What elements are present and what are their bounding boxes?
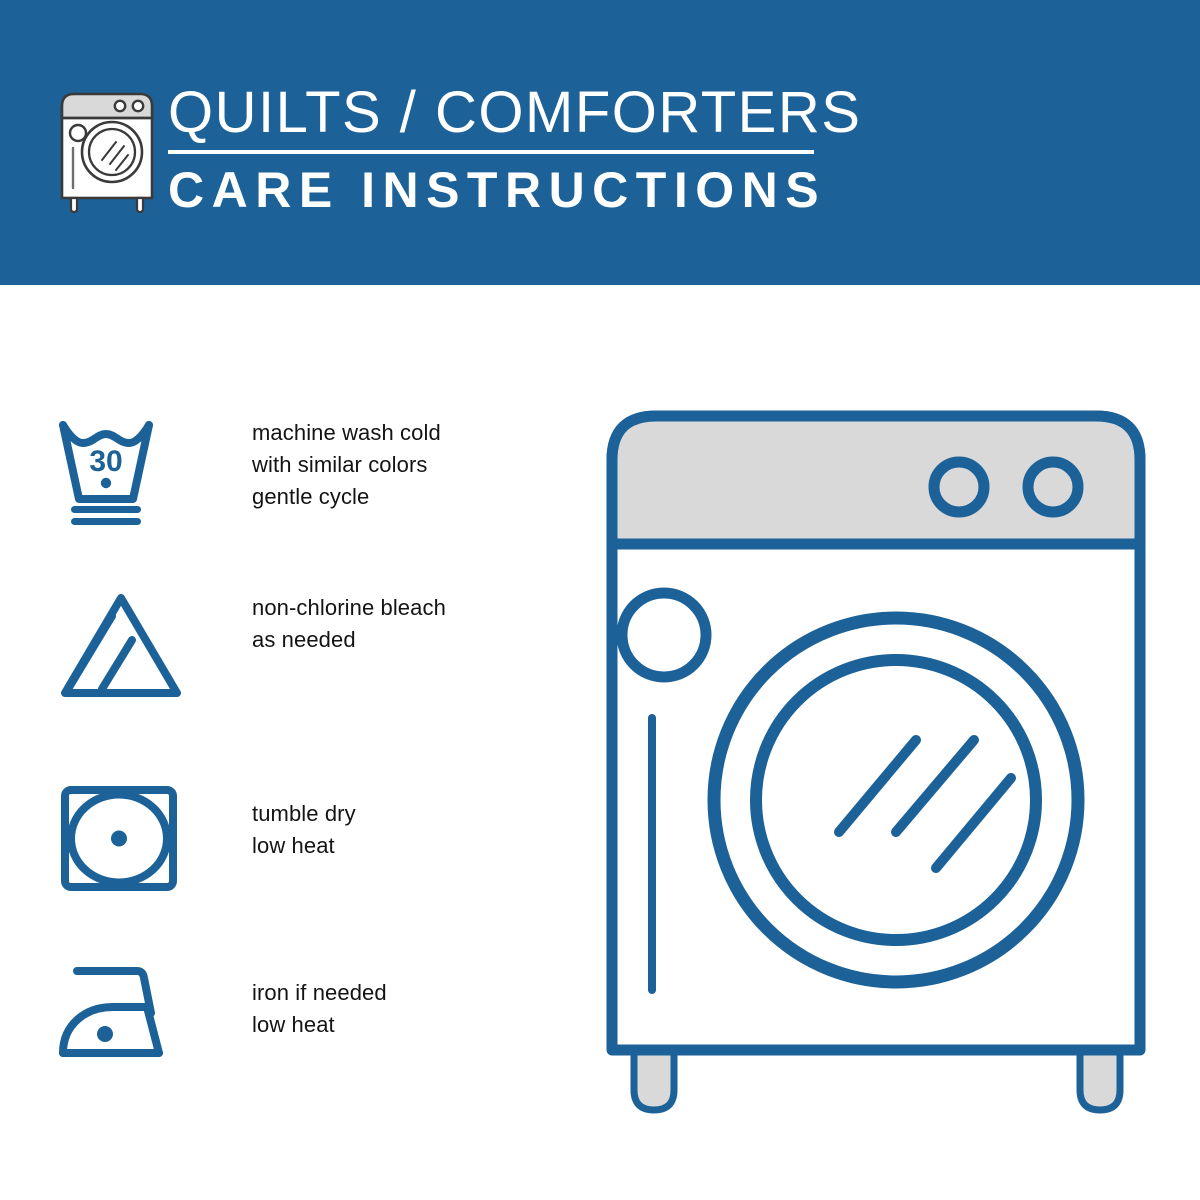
care-line: iron if needed xyxy=(252,977,387,1009)
iron-low-heat-icon xyxy=(55,955,190,1070)
page-title: QUILTS / COMFORTERS xyxy=(168,82,828,144)
care-line: low heat xyxy=(252,830,356,862)
title-divider xyxy=(168,150,814,154)
knob-left xyxy=(934,462,984,512)
wash-temperature-label: 30 xyxy=(89,445,122,478)
care-line: tumble dry xyxy=(252,798,356,830)
care-row: tumble dry low heat xyxy=(0,780,560,895)
washing-machine-icon xyxy=(52,78,164,213)
care-text-wash: machine wash cold with similar colors ge… xyxy=(252,413,441,513)
care-row: non-chlorine bleach as needed xyxy=(0,588,560,703)
care-line: non-chlorine bleach xyxy=(252,592,446,624)
care-line: low heat xyxy=(252,1009,387,1041)
care-line: gentle cycle xyxy=(252,481,441,513)
care-text-bleach: non-chlorine bleach as needed xyxy=(252,588,446,656)
care-line: as needed xyxy=(252,624,446,656)
knob-right xyxy=(1028,462,1078,512)
wash-tub-30-gentle-icon: 30 xyxy=(55,413,190,528)
tumble-dry-low-heat-icon xyxy=(55,780,190,895)
care-text-dry: tumble dry low heat xyxy=(252,780,356,862)
care-line: with similar colors xyxy=(252,449,441,481)
care-line: machine wash cold xyxy=(252,417,441,449)
care-row: iron if needed low heat xyxy=(0,955,560,1070)
page-header: QUILTS / COMFORTERS CARE INSTRUCTIONS xyxy=(0,0,1200,285)
care-instructions-list: 30 machine wash cold with similar colors… xyxy=(0,285,560,1200)
bleach-triangle-non-chlorine-icon xyxy=(55,588,190,703)
care-text-iron: iron if needed low heat xyxy=(252,955,387,1041)
front-load-washing-machine-illustration xyxy=(596,400,1176,1120)
header-title-block: QUILTS / COMFORTERS CARE INSTRUCTIONS xyxy=(168,82,828,218)
care-row: 30 machine wash cold with similar colors… xyxy=(0,413,560,528)
detergent-dispenser xyxy=(622,593,706,677)
page-subtitle: CARE INSTRUCTIONS xyxy=(168,162,828,218)
